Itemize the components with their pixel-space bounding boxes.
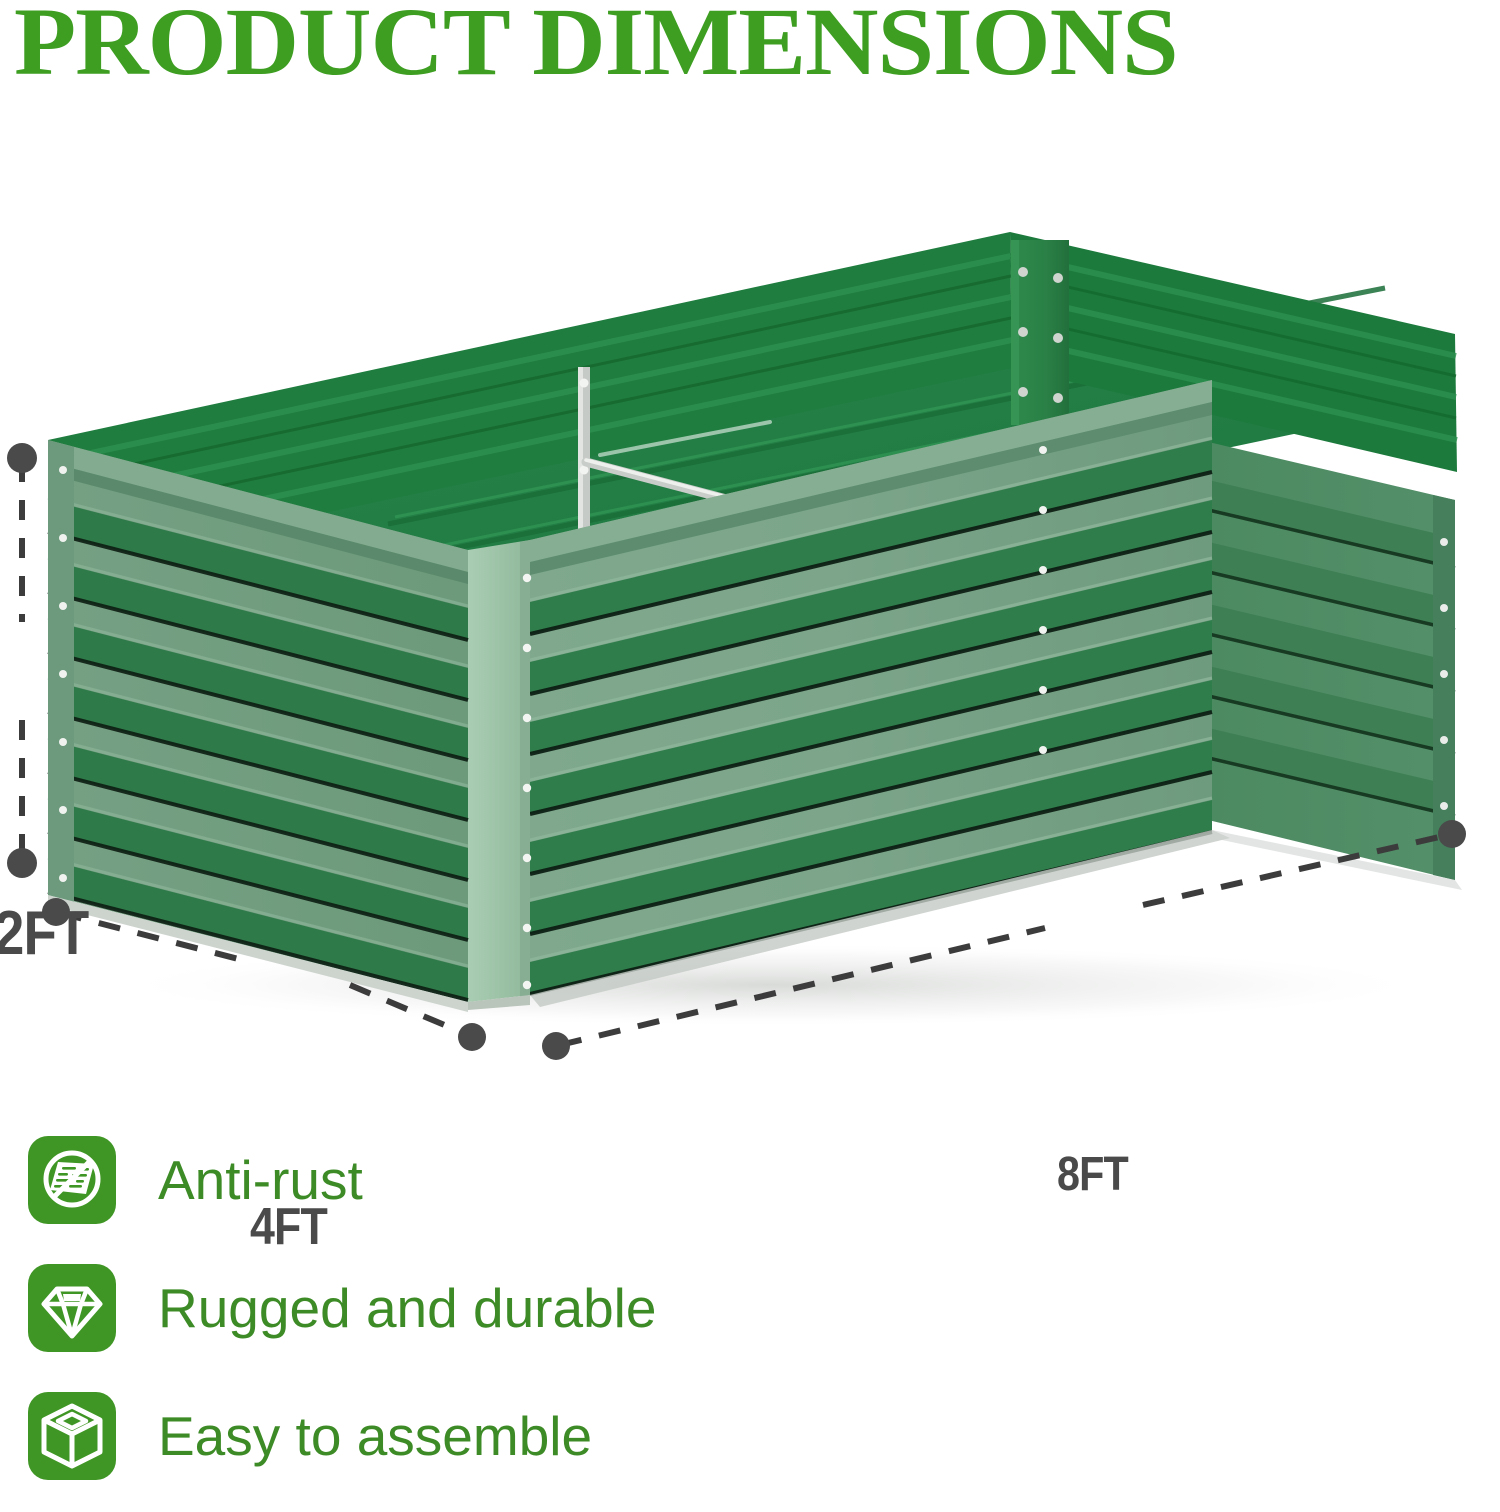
feature-item-anti-rust: Anti-rust [28, 1128, 928, 1232]
page-title: PRODUCT DIMENSIONS [14, 0, 1500, 88]
assembly-cube-glyph [36, 1400, 108, 1472]
feature-label: Rugged and durable [158, 1281, 656, 1336]
feature-label: Easy to assemble [158, 1409, 592, 1464]
infographic-canvas: PRODUCT DIMENSIONS [0, 0, 1500, 1493]
dimension-label-height: 2FT [0, 898, 88, 969]
feature-label: Anti-rust [158, 1153, 363, 1208]
front-corner-post [468, 540, 531, 1010]
feature-item-rugged: Rugged and durable [28, 1256, 928, 1360]
right-end-panel [1200, 440, 1455, 880]
assembly-cube-icon [28, 1392, 116, 1480]
diamond-gem-icon [28, 1264, 116, 1352]
feature-list: Anti-rust Rugged and dura [28, 1128, 928, 1512]
product-illustration: 2FT 4FT 8FT [0, 250, 1500, 1060]
feature-item-assemble: Easy to assemble [28, 1384, 928, 1488]
dimension-label-length: 8FT [1057, 1147, 1128, 1202]
diamond-gem-glyph [36, 1272, 108, 1344]
no-rust-icon [28, 1136, 116, 1224]
no-rust-glyph [36, 1144, 108, 1216]
rear-corner-post [1011, 240, 1069, 425]
garden-bed-drawing [0, 250, 1500, 1060]
